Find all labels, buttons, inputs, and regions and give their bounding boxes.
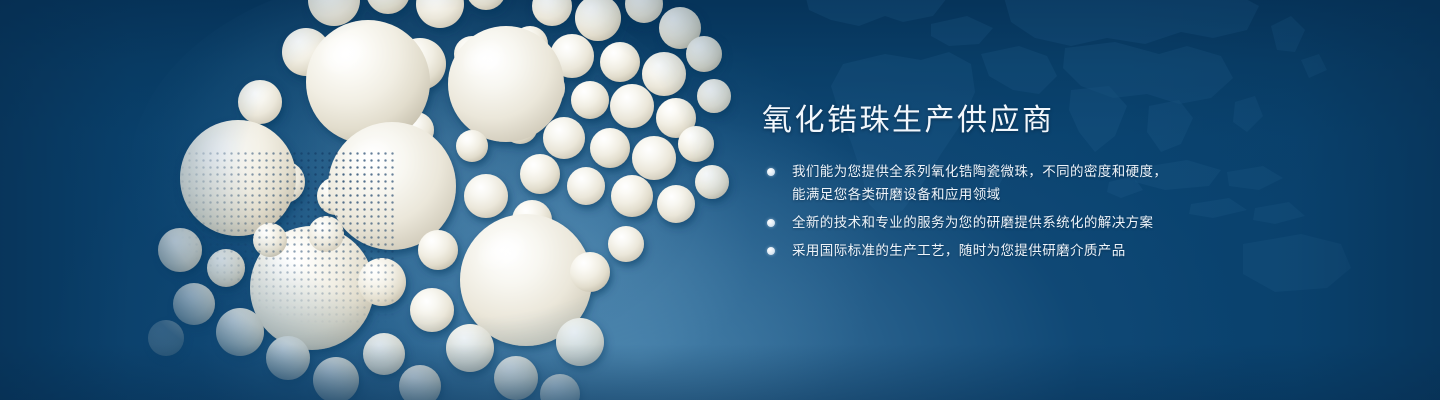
bullet-dot-icon: [767, 247, 775, 255]
bullet-text-line: 我们能为您提供全系列氧化锆陶瓷微珠，不同的密度和硬度，: [792, 161, 1382, 183]
bullet-text-line: 全新的技术和专业的服务为您的研磨提供系统化的解决方案: [792, 212, 1382, 234]
bullet-text-line: 采用国际标准的生产工艺，随时为您提供研磨介质产品: [792, 240, 1382, 262]
banner-headline: 氧化锆珠生产供应商: [762, 104, 1382, 137]
list-item: 采用国际标准的生产工艺，随时为您提供研磨介质产品: [762, 240, 1382, 262]
bullet-dot-icon: [767, 219, 775, 227]
banner-copy: 氧化锆珠生产供应商 我们能为您提供全系列氧化锆陶瓷微珠，不同的密度和硬度， 能满…: [762, 104, 1382, 262]
feature-list: 我们能为您提供全系列氧化锆陶瓷微珠，不同的密度和硬度， 能满足您各类研磨设备和应…: [762, 161, 1382, 262]
list-item: 我们能为您提供全系列氧化锆陶瓷微珠，不同的密度和硬度， 能满足您各类研磨设备和应…: [762, 161, 1382, 206]
bullet-dot-icon: [767, 168, 775, 176]
list-item: 全新的技术和专业的服务为您的研磨提供系统化的解决方案: [762, 212, 1382, 234]
hero-banner: 氧化锆珠生产供应商 我们能为您提供全系列氧化锆陶瓷微珠，不同的密度和硬度， 能满…: [0, 0, 1440, 400]
bullet-text-line: 能满足您各类研磨设备和应用领域: [792, 184, 1382, 206]
